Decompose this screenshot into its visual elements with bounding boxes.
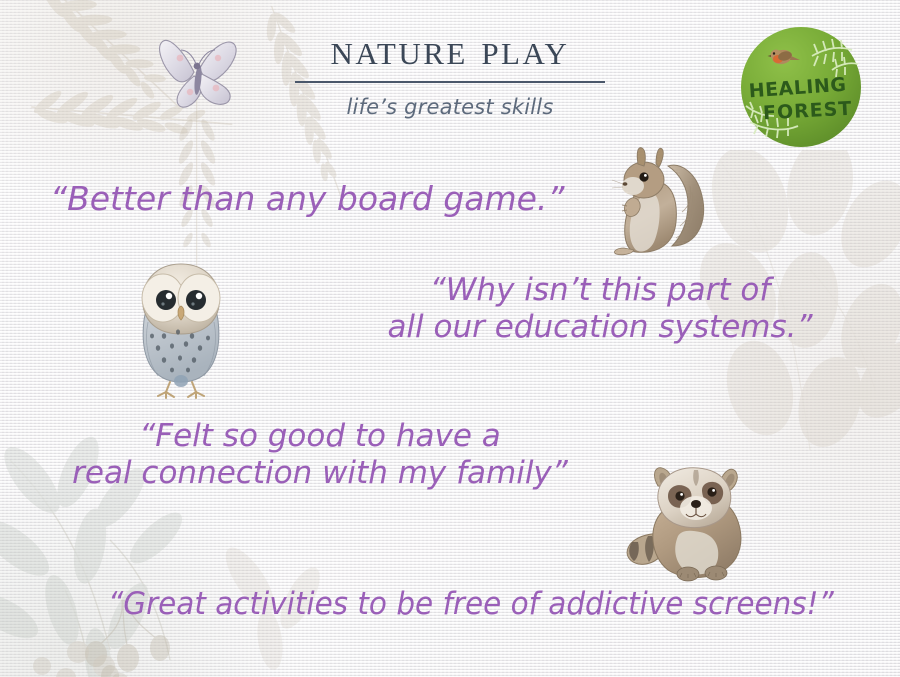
squirrel-illustration: [602, 134, 710, 260]
owl-illustration: [122, 250, 240, 400]
logo-line-2: FOREST: [762, 98, 852, 125]
title-divider: [295, 81, 605, 83]
testimonial-quote-2: “Why isn’t this part of all our educatio…: [380, 272, 820, 345]
testimonial-quote-3: “Felt so good to have a real connection …: [60, 418, 580, 491]
testimonial-quote-1: “Better than any board game.”: [50, 180, 564, 219]
nature-play-poster: Nature Play life’s greatest skills: [0, 0, 900, 677]
testimonial-quote-4: “Great activities to be free of addictiv…: [108, 586, 834, 623]
raccoon-illustration: [618, 442, 756, 582]
butterfly-illustration: [148, 26, 252, 122]
berry-cluster: [33, 641, 129, 677]
healing-forest-logo[interactable]: HEALING FOREST: [740, 26, 862, 148]
